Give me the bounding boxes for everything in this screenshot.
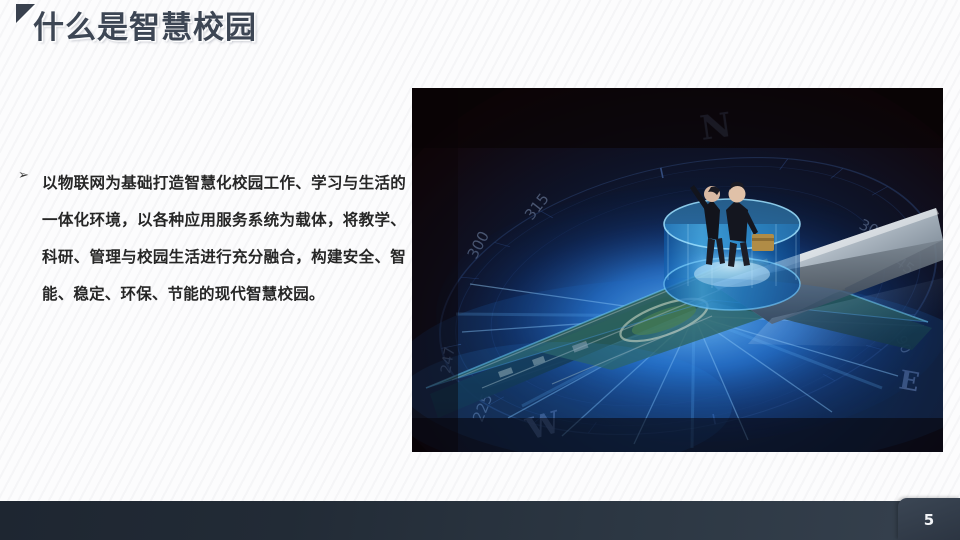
illustration-graphic: 30 45 90 315 300 247 225 N W E <box>412 88 943 452</box>
page-title: 什么是智慧校园 <box>33 2 257 47</box>
slide-title-block: 什么是智慧校园 <box>0 0 560 58</box>
arrow-bullet-icon: ➢ <box>14 165 42 187</box>
page-number-badge: 5 <box>898 498 960 540</box>
smart-campus-compass-illustration: 30 45 90 315 300 247 225 N W E <box>412 88 943 452</box>
footer-bar <box>0 501 960 540</box>
list-item: ➢ 以物联网为基础打造智慧化校园工作、学习与生活的一体化环境，以各种应用服务系统… <box>14 165 406 313</box>
body-content: ➢ 以物联网为基础打造智慧化校园工作、学习与生活的一体化环境，以各种应用服务系统… <box>14 165 406 313</box>
bullet-paragraph: 以物联网为基础打造智慧化校园工作、学习与生活的一体化环境，以各种应用服务系统为载… <box>42 165 406 313</box>
page-number: 5 <box>924 511 934 529</box>
slide-canvas: 什么是智慧校园 ➢ 以物联网为基础打造智慧化校园工作、学习与生活的一体化环境，以… <box>0 0 960 540</box>
